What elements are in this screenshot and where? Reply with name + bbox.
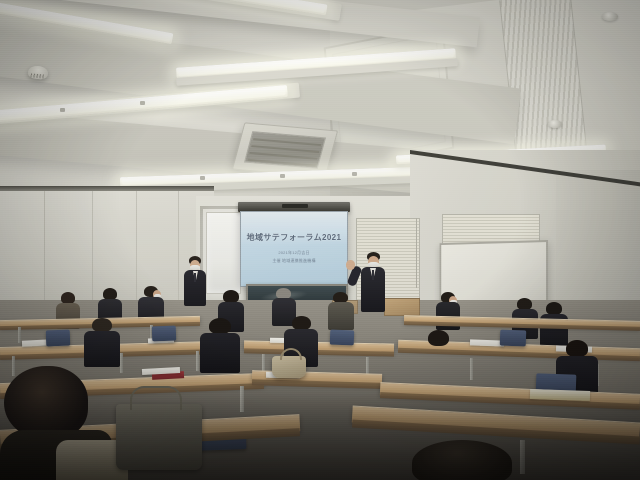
shoulder-bag-foreground bbox=[116, 404, 202, 470]
desk-leg bbox=[240, 386, 244, 412]
chair[interactable] bbox=[152, 326, 177, 342]
blind-cord[interactable] bbox=[416, 218, 417, 288]
seated-attendee bbox=[200, 318, 240, 370]
chair[interactable] bbox=[500, 330, 527, 347]
projection-screen: 地域サテフォーラム2021 2021年12月吉日 主催 地域連携推進機構 bbox=[240, 211, 348, 287]
seated-attendee bbox=[418, 330, 458, 386]
chair[interactable] bbox=[330, 330, 355, 346]
slide-subline-2: 主催 地域連携推進機構 bbox=[241, 258, 347, 264]
torso-suit bbox=[84, 331, 120, 367]
hair bbox=[92, 318, 112, 332]
torso-suit bbox=[200, 333, 240, 373]
seated-attendee bbox=[84, 318, 120, 364]
necktie bbox=[194, 273, 196, 282]
recessed-downlight-icon bbox=[602, 12, 618, 21]
desk-leg bbox=[196, 351, 199, 371]
desk-leg bbox=[470, 358, 473, 380]
hair bbox=[209, 318, 231, 334]
desk-leg bbox=[18, 327, 21, 343]
seated-attendee bbox=[328, 292, 354, 328]
torso-suit bbox=[418, 345, 458, 389]
torso bbox=[328, 302, 354, 330]
hair bbox=[566, 340, 588, 357]
presenter bbox=[356, 252, 390, 314]
chair[interactable] bbox=[46, 330, 71, 347]
shoulder-bag bbox=[272, 356, 306, 378]
screen-pull-handle[interactable] bbox=[282, 204, 308, 208]
slide-subline-1: 2021年12月吉日 bbox=[241, 250, 347, 256]
hand-gesture-icon bbox=[346, 260, 355, 270]
hair bbox=[412, 440, 512, 480]
foreground-attendee-right bbox=[412, 440, 520, 480]
seminar-room-photo: 地域サテフォーラム2021 2021年12月吉日 主催 地域連携推進機構 bbox=[0, 0, 640, 480]
desk-leg bbox=[120, 353, 123, 373]
ac-vent-grille bbox=[244, 131, 326, 169]
recessed-downlight-icon bbox=[548, 120, 562, 128]
foreground-attendee-left bbox=[0, 366, 120, 480]
desk-leg bbox=[520, 440, 525, 474]
partition-track-rail bbox=[0, 186, 214, 191]
standing-staff-left bbox=[182, 256, 208, 308]
hair bbox=[292, 316, 311, 330]
hair bbox=[4, 366, 88, 440]
necktie bbox=[372, 270, 374, 280]
hair bbox=[428, 330, 449, 346]
window-left bbox=[206, 212, 241, 294]
handout-papers bbox=[530, 389, 590, 401]
slide-title: 地域サテフォーラム2021 bbox=[241, 232, 347, 243]
bag-strap bbox=[130, 386, 182, 410]
